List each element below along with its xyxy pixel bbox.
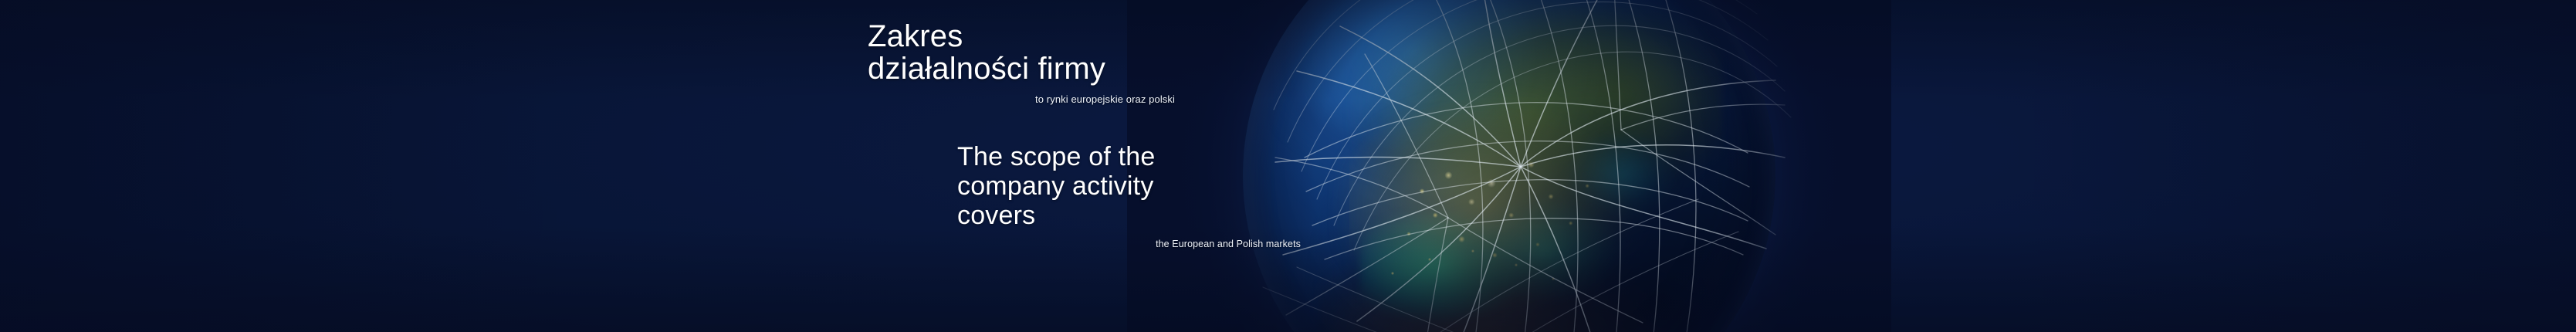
english-headline: The scope of the company activity covers bbox=[957, 142, 1320, 230]
english-text-block: The scope of the company activity covers… bbox=[957, 142, 1320, 249]
banner-copy: Zakres działalności firmy to rynki europ… bbox=[868, 0, 1230, 332]
polish-headline: Zakres działalności firmy bbox=[868, 20, 1230, 86]
polish-subtitle: to rynki europejskie oraz polski bbox=[868, 93, 1175, 105]
hero-banner: Zakres działalności firmy to rynki europ… bbox=[0, 0, 2576, 332]
english-subtitle: the European and Polish markets bbox=[957, 239, 1301, 249]
polish-text-block: Zakres działalności firmy to rynki europ… bbox=[868, 20, 1230, 105]
